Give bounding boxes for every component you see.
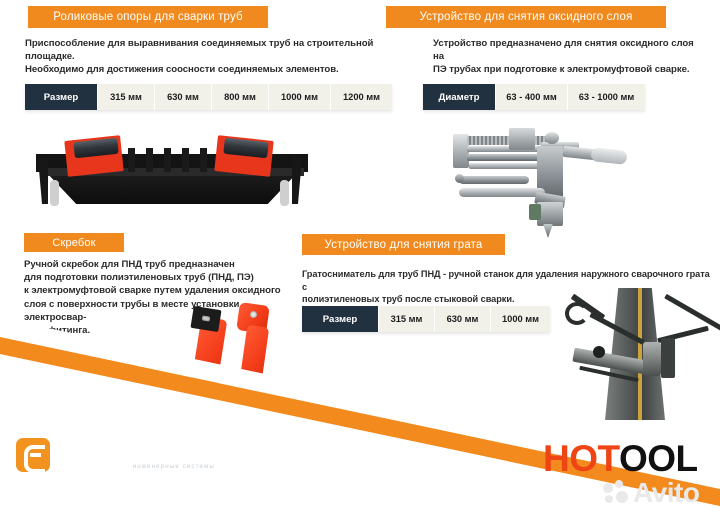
starpolimer-tagline: инженерные системы bbox=[60, 464, 215, 470]
watermark-avito: Avito bbox=[603, 477, 699, 508]
spec-table-roller-support: Размер 315 мм 630 мм 800 мм 1000 мм 1200… bbox=[25, 84, 392, 110]
spec-cell: 1200 мм bbox=[330, 84, 392, 110]
spec-cell: 630 мм bbox=[434, 306, 490, 332]
product-image-roller-support bbox=[28, 128, 318, 224]
spec-cell: 63 - 1000 мм bbox=[567, 84, 645, 110]
logo-hotool: HOTOOL bbox=[543, 440, 698, 477]
description-oxide-line-2: ПЭ трубах при подготовке к электромуфтов… bbox=[433, 63, 695, 76]
description-scraper-line-2: для подготовки полиэтиленовых труб (ПНД,… bbox=[24, 271, 304, 284]
spec-cell: 630 мм bbox=[154, 84, 211, 110]
starpolimer-c-mark-icon bbox=[16, 438, 50, 472]
description-roller-line-2: Необходимо для достижения соосности соед… bbox=[25, 63, 410, 76]
banner-scraper: Скребок bbox=[24, 233, 124, 252]
starpolimer-text: СтарПолимер инженерные системы bbox=[60, 439, 215, 470]
description-oxide-line-1: Устройство предназначено для снятия окси… bbox=[433, 37, 695, 63]
description-scraper-line-3: к электромуфтовой сварке путем удаления … bbox=[24, 284, 304, 297]
spec-table-oxide-remover: Диаметр 63 - 400 мм 63 - 1000 мм bbox=[423, 84, 645, 110]
spec-cell: 1000 мм bbox=[268, 84, 330, 110]
spec-header-oxide: Диаметр bbox=[423, 84, 495, 110]
avito-dots-icon bbox=[603, 480, 629, 506]
banner-roller-support: Роликовые опоры для сварки труб bbox=[28, 6, 268, 28]
product-image-deburr bbox=[565, 288, 720, 420]
description-roller-line-1: Приспособление для выравнивания соединяе… bbox=[25, 37, 410, 63]
spec-header-roller: Размер bbox=[25, 84, 97, 110]
spec-cell: 1000 мм bbox=[490, 306, 550, 332]
spec-cell: 800 мм bbox=[211, 84, 268, 110]
spec-cell: 315 мм bbox=[378, 306, 434, 332]
spec-cell: 315 мм bbox=[97, 84, 154, 110]
description-oxide-remover: Устройство предназначено для снятия окси… bbox=[433, 37, 695, 77]
banner-deburr: Устройство для снятия грата bbox=[302, 234, 505, 255]
starpolimer-name: СтарПолимер bbox=[60, 439, 215, 461]
infographic-page: Роликовые опоры для сварки труб Приспосо… bbox=[0, 0, 720, 508]
avito-text: Avito bbox=[633, 477, 699, 508]
description-scraper-line-1: Ручной скребок для ПНД труб предназначен bbox=[24, 258, 304, 271]
hotool-part-hot: HOT bbox=[543, 438, 619, 479]
product-image-oxide-remover bbox=[425, 120, 710, 238]
spec-header-deburr: Размер bbox=[302, 306, 378, 332]
spec-table-deburr: Размер 315 мм 630 мм 1000 мм bbox=[302, 306, 550, 332]
description-roller-support: Приспособление для выравнивания соединяе… bbox=[25, 37, 410, 77]
hotool-part-ool: OOL bbox=[619, 438, 698, 479]
logo-starpolimer: СтарПолимер инженерные системы bbox=[16, 438, 215, 472]
spec-cell: 63 - 400 мм bbox=[495, 84, 567, 110]
banner-oxide-remover: Устройство для снятия оксидного слоя bbox=[386, 6, 666, 28]
